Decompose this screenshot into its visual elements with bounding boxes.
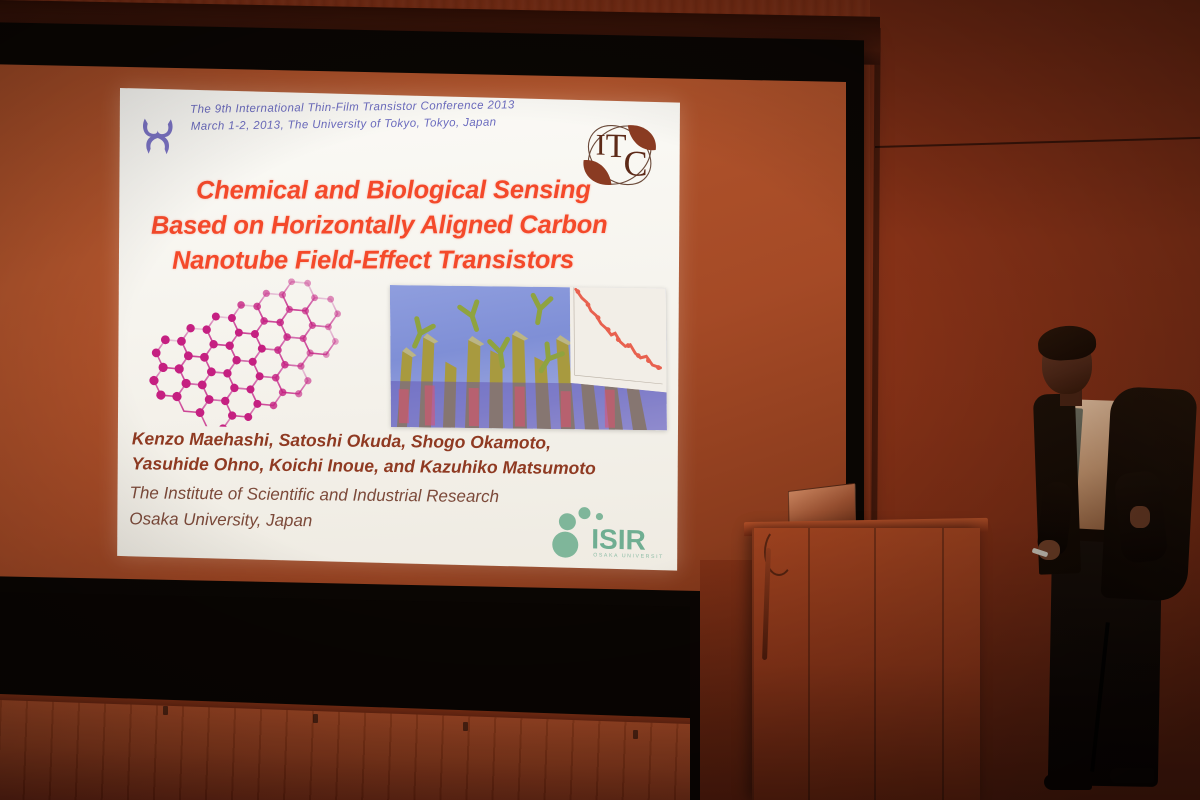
floor-bolt	[463, 722, 468, 731]
lectern-side-block	[700, 560, 756, 800]
isir-logo: ISIR OSAKA UNIVERSITY	[547, 503, 663, 562]
lectern-panel-seam	[808, 528, 810, 800]
presentation-slide: The 9th International Thin-Film Transist…	[117, 88, 680, 571]
lectern-panel-seam	[874, 528, 876, 800]
inset-sensor-response-plot	[570, 285, 667, 392]
lectern-panel-seam	[942, 528, 944, 800]
floor-bolt	[313, 714, 318, 723]
isir-logo-text: ISIR	[591, 523, 646, 555]
title-line-1: Chemical and Biological Sensing	[129, 173, 658, 209]
title-line-2: Based on Horizontally Aligned Carbon	[117, 208, 643, 244]
presenter-hand-right	[1130, 506, 1150, 528]
presenter-shoe-right	[1110, 768, 1154, 783]
presenter-speaker	[1014, 322, 1200, 800]
floor-bolt	[633, 730, 638, 739]
svg-text:I: I	[596, 128, 606, 161]
isir-logo-subtitle: OSAKA UNIVERSITY	[593, 552, 663, 560]
university-of-tokyo-logo	[138, 112, 178, 155]
presenter-shoe-left	[1044, 774, 1092, 790]
slide-header: The 9th International Thin-Film Transist…	[134, 98, 670, 174]
title-line-3: Nanotube Field-Effect Transistors	[117, 243, 637, 279]
carbon-nanotube-lattice-graphic	[134, 274, 405, 431]
presentation-scene: The 9th International Thin-Film Transist…	[0, 0, 1200, 800]
affiliation-line-2: Osaka University, Japan	[129, 506, 559, 537]
affiliation-block: The Institute of Scientific and Industri…	[129, 480, 559, 543]
slide-title: Chemical and Biological Sensing Based on…	[135, 166, 664, 285]
conference-info: The 9th International Thin-Film Transist…	[190, 97, 516, 136]
center-photo-antibodies-on-nanotubes	[390, 285, 667, 430]
author-line-2: Yasuhide Ohno, Koichi Inoue, and Kazuhik…	[132, 451, 672, 482]
floor-bolt	[163, 706, 168, 715]
conference-date-venue: March 1-2, 2013, The University of Tokyo…	[191, 114, 516, 136]
